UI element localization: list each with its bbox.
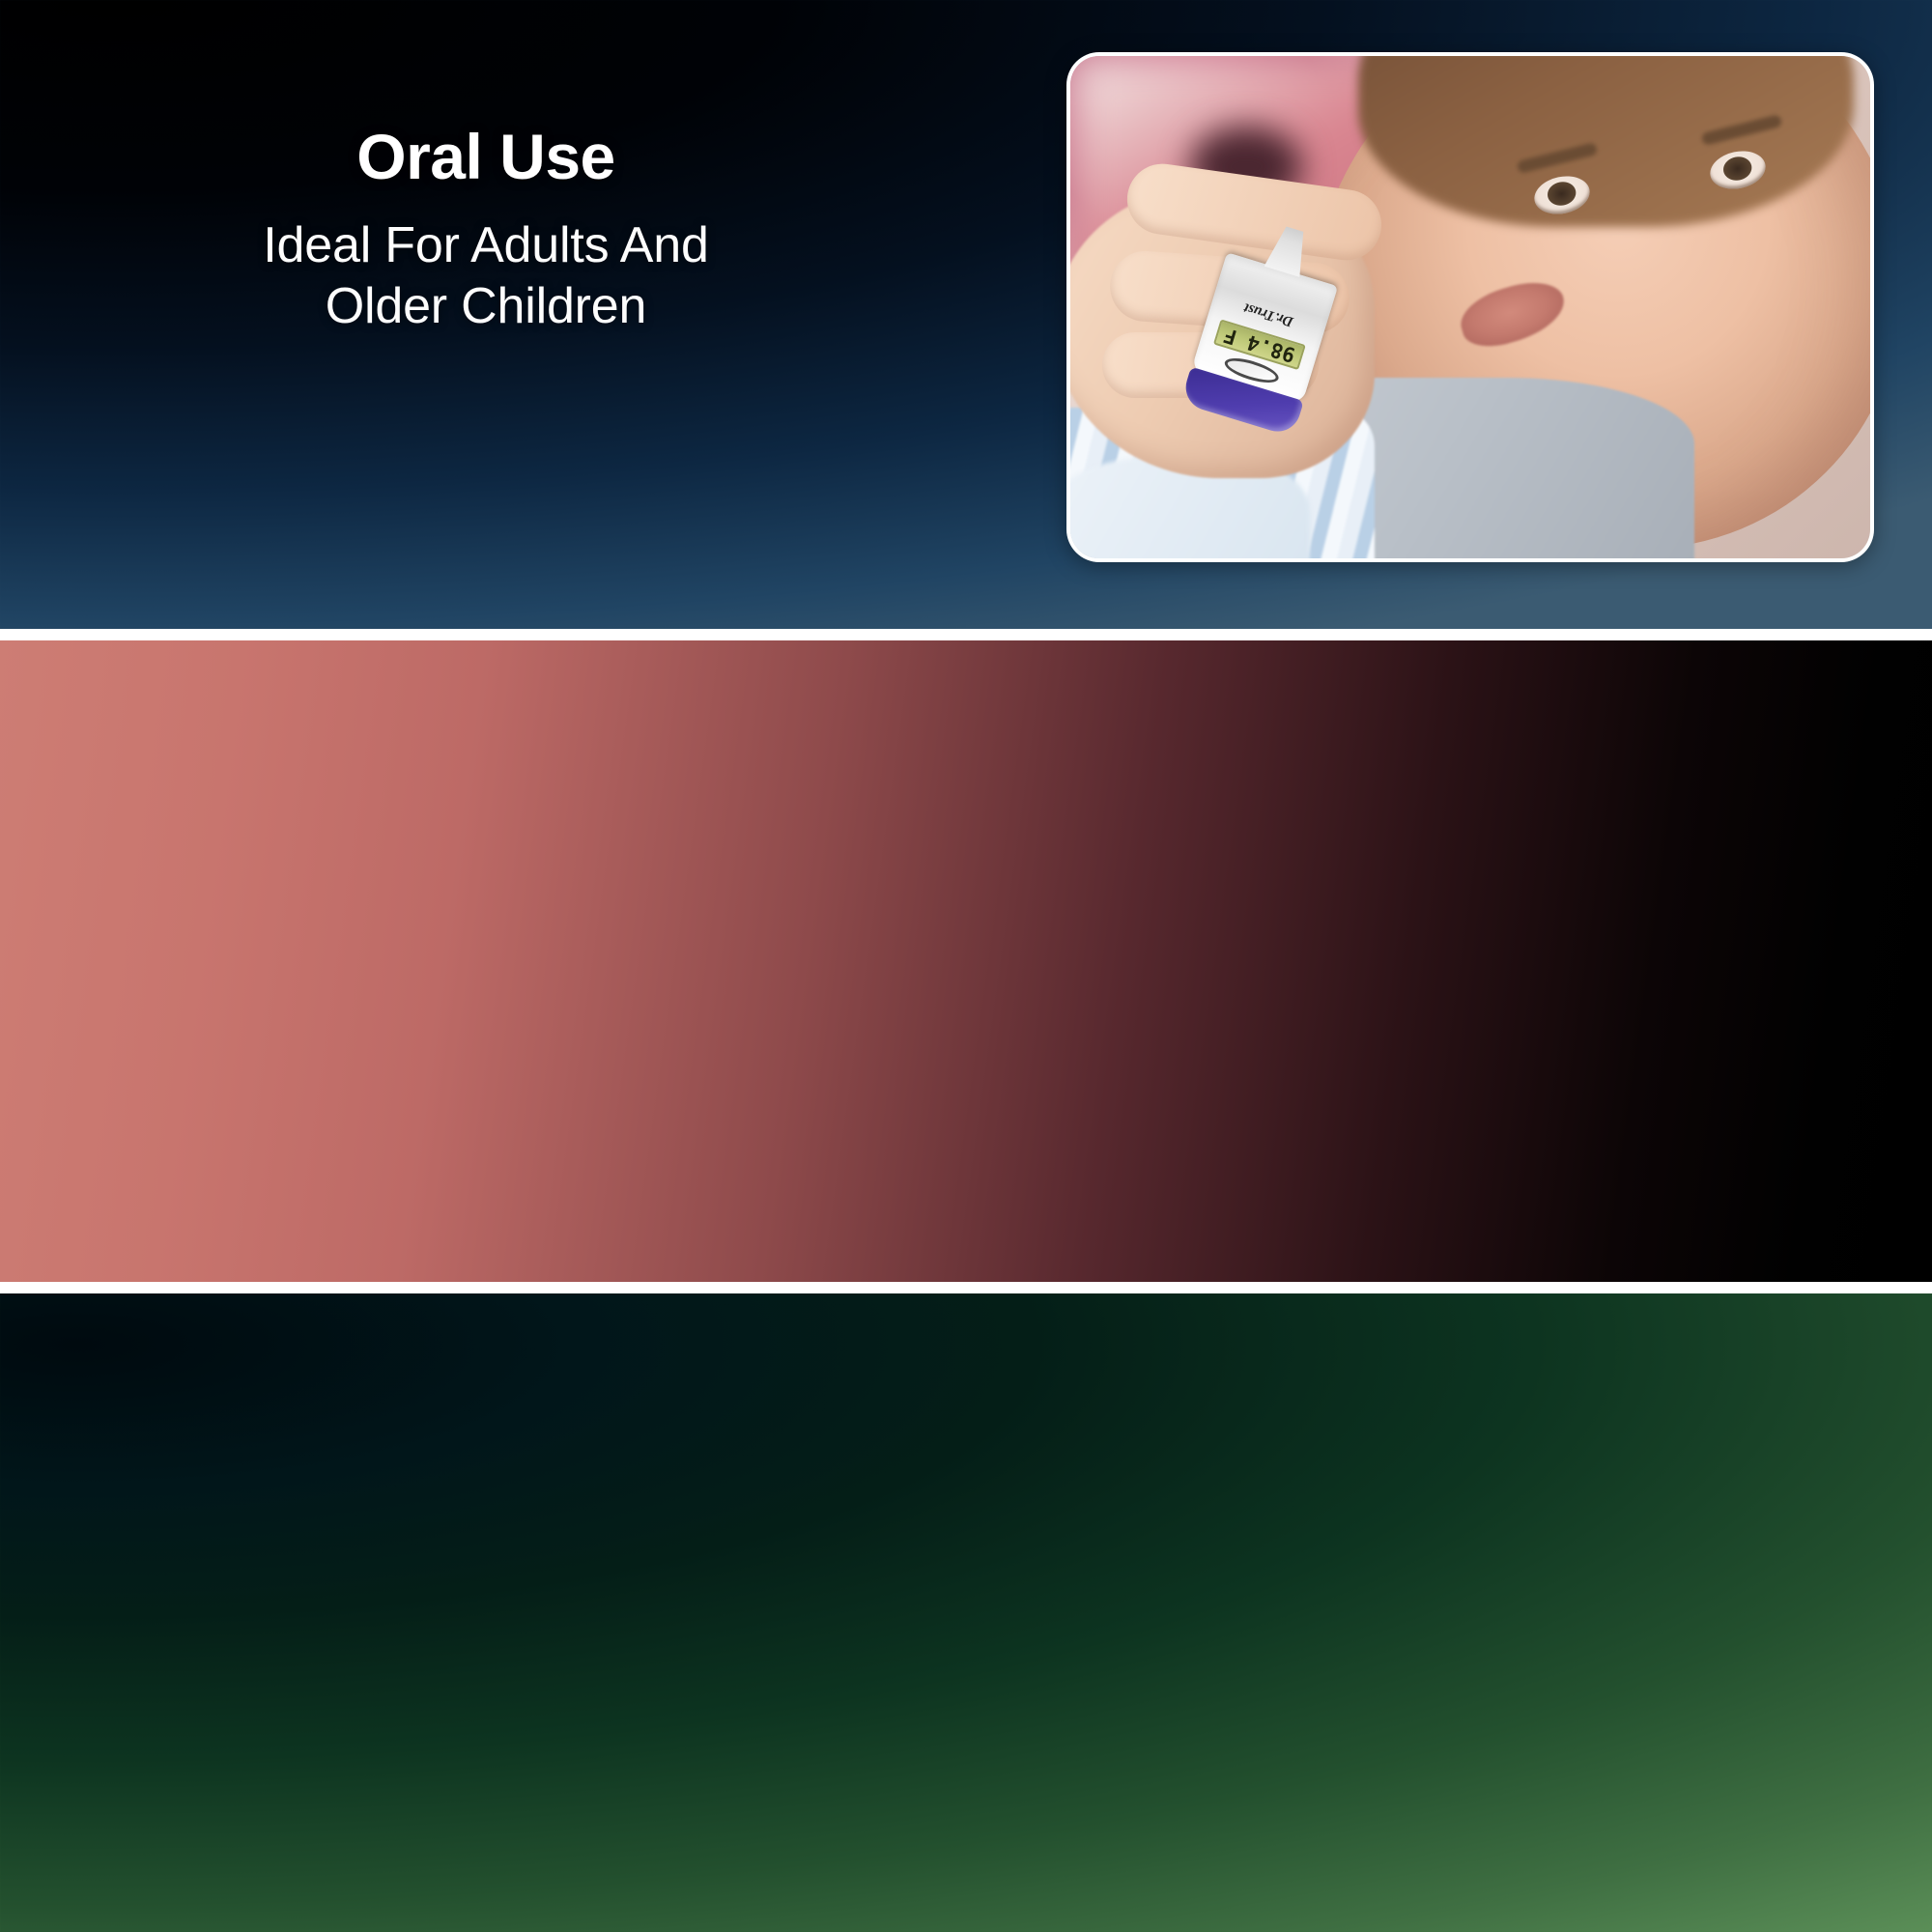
- panel-oral-text-block: Oral Use Ideal For Adults And Older Chil…: [85, 124, 887, 338]
- panel-divider-2: [0, 1282, 1932, 1293]
- oral-scene: 98.4 F Dr.Trust: [1070, 56, 1870, 558]
- child-oral-thermometer-photo: 98.4 F Dr.Trust: [1066, 52, 1874, 562]
- panel-oral-subtitle-line-1: Ideal For Adults And: [85, 215, 887, 276]
- panel-oral-use: Oral Use Ideal For Adults And Older Chil…: [0, 0, 1932, 629]
- panel-underarm-background: [0, 640, 1932, 1281]
- panel-underarm-use: Underarm Use Suitable For Sensitive User…: [0, 640, 1932, 1281]
- panel-rectal-use: Rectal Use Ideal For Infants Who Can’t U…: [0, 1293, 1932, 1932]
- panel-oral-subtitle-line-2: Older Children: [85, 276, 887, 337]
- thermometer-usage-infographic: Oral Use Ideal For Adults And Older Chil…: [0, 0, 1932, 1932]
- panel-oral-subtitle: Ideal For Adults And Older Children: [85, 215, 887, 338]
- panel-rectal-background: [0, 1293, 1932, 1932]
- panel-oral-headline: Oral Use: [85, 124, 887, 190]
- panel-divider-1: [0, 629, 1932, 640]
